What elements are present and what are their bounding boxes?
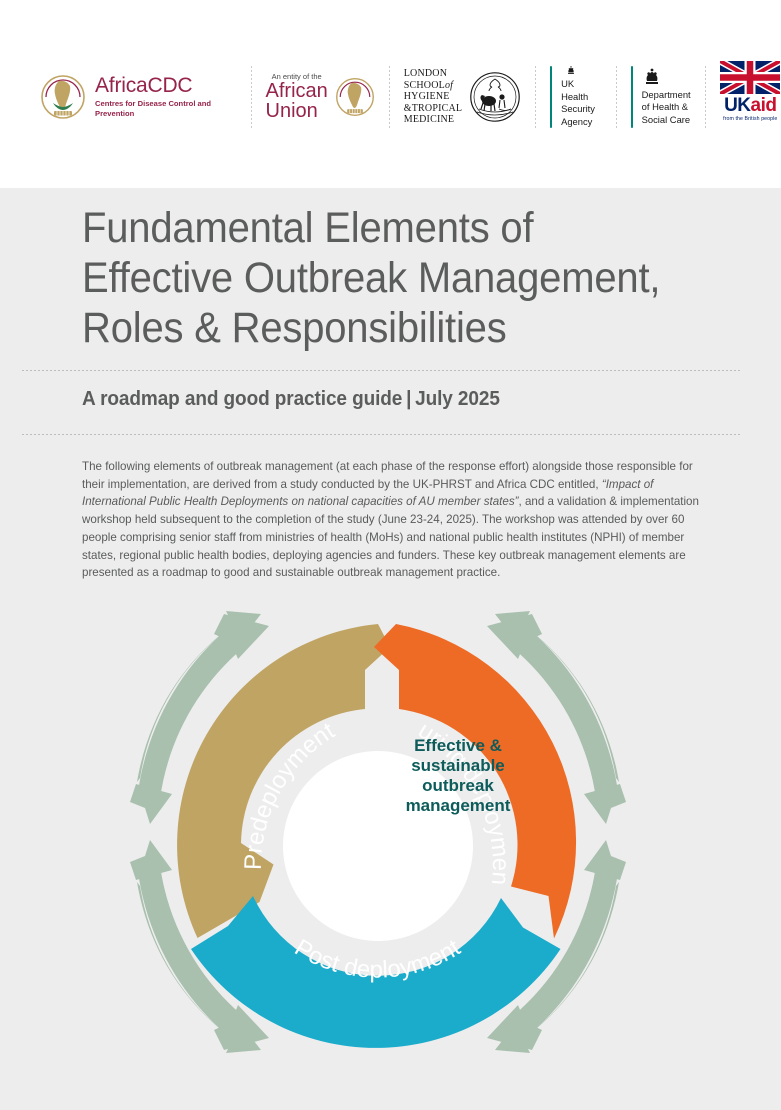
uk-aid-wordmark: UKaid: [724, 96, 776, 115]
page-title: Fundamental Elements of Effective Outbre…: [82, 204, 696, 354]
union-jack-flag-icon: [720, 61, 780, 94]
logo-row: AfricaCDC Centres for Disease Control an…: [40, 58, 781, 136]
uk-aid-tagline: from the British people: [723, 116, 777, 122]
lshtm-line2: SCHOOL: [404, 80, 445, 91]
dhsc-text: Department of Health & Social Care: [642, 66, 691, 128]
dhsc-lines: Department of Health & Social Care: [642, 89, 691, 126]
logo-divider: [705, 66, 706, 128]
ukhsa-line2: Security: [561, 103, 602, 115]
lshtm-line2-wrap: SCHOOLof: [404, 80, 462, 92]
logo-lshtm: LONDON SCHOOLof HYGIENE &TROPICAL MEDICI…: [404, 61, 521, 133]
uk-aid-uk: UK: [724, 95, 750, 116]
lshtm-line3: HYGIENE: [404, 91, 462, 103]
outbreak-management-cycle-diagram: Predeployment During deployment Post dep…: [128, 596, 628, 1066]
logo-ukhsa: UK Health Security Agency: [550, 61, 602, 133]
center-line2: sustainable: [378, 756, 538, 776]
intro-paragraph: The following elements of outbreak manag…: [82, 458, 704, 582]
center-line4: management: [378, 796, 538, 816]
diagram-center-text: Effective & sustainable outbreak managem…: [378, 736, 538, 816]
page-title-line2: Effective Outbreak Management,: [82, 254, 696, 304]
logo-africa-cdc: AfricaCDC Centres for Disease Control an…: [40, 61, 237, 133]
logo-dhsc: Department of Health & Social Care: [631, 61, 691, 133]
dhsc-line1: Department: [642, 89, 691, 101]
africa-cdc-title: AfricaCDC: [95, 75, 237, 96]
center-line1: Effective &: [378, 736, 538, 756]
ukhsa-lines: UK Health Security Agency: [561, 78, 602, 128]
africa-cdc-text: AfricaCDC Centres for Disease Control an…: [95, 75, 237, 120]
lshtm-line5: MEDICINE: [404, 114, 462, 126]
logo-divider: [616, 66, 617, 128]
ukhsa-bar-wrap: UK Health Security Agency: [550, 66, 602, 128]
ukhsa-text: UK Health Security Agency: [561, 66, 602, 128]
lshtm-crest-icon: [469, 71, 521, 123]
center-line3: outbreak: [378, 776, 538, 796]
subtitle-text: A roadmap and good practice guide: [82, 388, 402, 410]
dhsc-bar-wrap: Department of Health & Social Care: [631, 66, 691, 128]
dhsc-accent-bar: [631, 66, 633, 128]
logo-divider: [535, 66, 536, 128]
lshtm-line1: LONDON: [404, 68, 462, 80]
lshtm-line2b: of: [445, 80, 453, 91]
subtitle-date: July 2025: [415, 388, 500, 410]
african-union-entity-line: An entity of the: [266, 73, 328, 81]
ukhsa-accent-bar: [550, 66, 552, 128]
dhsc-line2: of Health &: [642, 101, 691, 113]
ukhsa-line3: Agency: [561, 116, 602, 128]
logo-uk-aid: UKaid from the British people: [720, 61, 781, 133]
africa-cdc-emblem-icon: [40, 74, 86, 120]
logo-divider: [389, 66, 390, 128]
uk-aid-aid: aid: [751, 95, 777, 116]
page-title-line1: Fundamental Elements of: [82, 204, 696, 254]
ukhsa-line1: UK Health: [561, 78, 602, 103]
divider-bottom: [22, 434, 741, 435]
logo-african-union: An entity of the African Union: [266, 61, 375, 133]
lshtm-line4: &TROPICAL: [404, 103, 462, 115]
header-logo-bar: AfricaCDC Centres for Disease Control an…: [0, 0, 781, 188]
document-page: AfricaCDC Centres for Disease Control an…: [0, 0, 781, 1110]
page-title-line3: Roles & Responsibilities: [82, 304, 696, 354]
divider-top: [22, 370, 741, 371]
royal-crown-icon: [642, 68, 662, 85]
african-union-line2: Union: [266, 102, 328, 121]
logo-divider: [251, 66, 252, 128]
african-union-line1: African: [266, 82, 328, 101]
subtitle-separator: |: [402, 388, 415, 410]
page-subtitle: A roadmap and good practice guide|July 2…: [82, 388, 709, 411]
royal-crown-icon: [561, 66, 581, 74]
africa-cdc-subtitle: Centres for Disease Control and Preventi…: [95, 99, 237, 120]
african-union-emblem-icon: [335, 77, 375, 117]
dhsc-line3: Social Care: [642, 114, 691, 126]
african-union-text: An entity of the African Union: [266, 73, 328, 121]
lshtm-text: LONDON SCHOOLof HYGIENE &TROPICAL MEDICI…: [404, 68, 462, 126]
